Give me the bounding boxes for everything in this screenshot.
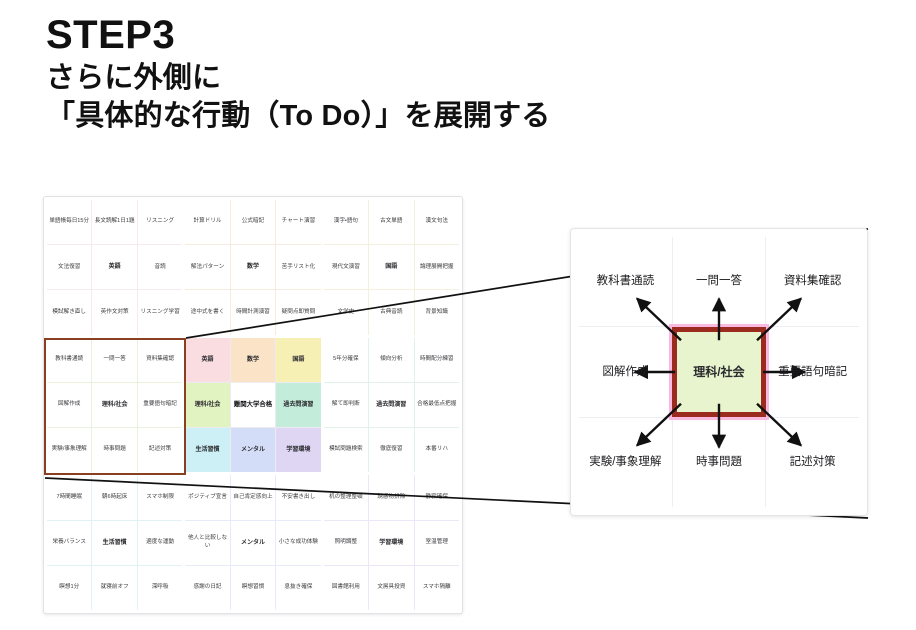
mandala-todo-cell[interactable]: 現代文演習 <box>324 245 368 289</box>
mandala-todo-cell[interactable]: 重要語句暗記 <box>138 383 182 427</box>
mandala-todo-cell[interactable]: 計算ドリル <box>185 200 229 244</box>
detail-cell-label: 実験/事象理解 <box>589 455 661 470</box>
mandala-todo-cell[interactable]: 模試問題検索 <box>324 428 368 472</box>
mandala-todo-cell[interactable]: 自己肯定感向上 <box>231 475 275 519</box>
mandala-block-過去問演習[interactable]: 5年分確保傾向分析時間配分練習解て即判断過去問演習合格最低点把握模試問題検索徹底… <box>324 338 459 473</box>
mandala-todo-cell[interactable]: 5年分確保 <box>324 338 368 382</box>
detail-cell-label: 資料集確認 <box>784 274 842 289</box>
mandala-theme-cell[interactable]: メンタル <box>231 521 275 565</box>
mandala-todo-cell[interactable]: 漢文句法 <box>415 200 459 244</box>
mandala-block-メンタル[interactable]: ポジティブ宣言自己肯定感向上不安書き出し他人と比較しないメンタル小さな成功体験感… <box>185 475 320 610</box>
subtitle-line-1: さらに外側に <box>46 60 846 98</box>
mandala-todo-cell[interactable]: 古文単語 <box>369 200 413 244</box>
mandala-todo-cell[interactable]: 模試解き直し <box>47 290 91 334</box>
mandala-todo-cell[interactable]: 他人と比較しない <box>185 521 229 565</box>
mandala-todo-cell[interactable]: 照明調整 <box>324 521 368 565</box>
detail-grid: 教科書通読 一問一答 資料集確認 図解作成 重要語句暗記 実験/事象理解 時事問… <box>579 237 859 507</box>
mandala-todo-cell[interactable]: 誘惑物排除 <box>369 475 413 519</box>
mandala-theme-cell[interactable]: 過去問演習 <box>369 383 413 427</box>
mandala-todo-cell[interactable]: 本番リハ <box>415 428 459 472</box>
mandala-todo-cell[interactable]: スマホ制限 <box>138 475 182 519</box>
mandala-block-数学[interactable]: 計算ドリル公式暗記チャート演習解法パターン数学苦手リスト化途中式を書く時間計測演… <box>185 200 320 335</box>
mandala-todo-cell[interactable]: 理科/社会 <box>185 383 229 427</box>
mandala-todo-cell[interactable]: 数学 <box>231 338 275 382</box>
detail-card[interactable]: 教科書通読 一問一答 資料集確認 図解作成 重要語句暗記 実験/事象理解 時事問… <box>570 228 868 516</box>
mandala-todo-cell[interactable]: 長文読解1日1題 <box>92 200 136 244</box>
mandala-chart-card[interactable]: 単語帳毎日15分長文読解1日1題リスニング文法復習英語音読模試解き直し英作文対策… <box>43 196 463 614</box>
detail-center-cell[interactable]: 理科/社会 <box>672 327 765 417</box>
mandala-todo-cell[interactable]: 息抜き確保 <box>276 566 320 610</box>
mandala-todo-cell[interactable]: 時事問題 <box>92 428 136 472</box>
mandala-todo-cell[interactable]: 古典音読 <box>369 290 413 334</box>
mandala-todo-cell[interactable]: 公式暗記 <box>231 200 275 244</box>
mandala-todo-cell[interactable]: 疑問点即質問 <box>276 290 320 334</box>
mandala-todo-cell[interactable]: 資料集確認 <box>138 338 182 382</box>
detail-cell-0[interactable]: 教科書通読 <box>579 237 672 326</box>
detail-cell-label: 図解作成 <box>602 365 648 380</box>
mandala-todo-cell[interactable]: 一問一答 <box>92 338 136 382</box>
mandala-todo-cell[interactable]: 途中式を書く <box>185 290 229 334</box>
mandala-todo-cell[interactable]: チャート演習 <box>276 200 320 244</box>
mandala-block-理科/社会[interactable]: 教科書通読一問一答資料集確認図解作成理科/社会重要語句暗記実験/事象理解時事問題… <box>47 338 182 473</box>
mandala-todo-cell[interactable]: ポジティブ宣言 <box>185 475 229 519</box>
mandala-todo-cell[interactable]: 7時間睡眠 <box>47 475 91 519</box>
detail-cell-label: 教科書通読 <box>597 274 655 289</box>
detail-cell-label: 重要語句暗記 <box>778 365 847 380</box>
mandala-todo-cell[interactable]: 静寂確保 <box>415 475 459 519</box>
mandala-todo-cell[interactable]: メンタル <box>231 428 275 472</box>
mandala-todo-cell[interactable]: 音読 <box>138 245 182 289</box>
mandala-todo-cell[interactable]: 感謝の日記 <box>185 566 229 610</box>
mandala-todo-cell[interactable]: 単語帳毎日15分 <box>47 200 91 244</box>
mandala-todo-cell[interactable]: 文学史 <box>324 290 368 334</box>
mandala-todo-cell[interactable]: 瞑想習慣 <box>231 566 275 610</box>
detail-cell-2[interactable]: 資料集確認 <box>766 237 859 326</box>
mandala-todo-cell[interactable]: 漢字・語句 <box>324 200 368 244</box>
mandala-todo-cell[interactable]: 瞑想1分 <box>47 566 91 610</box>
detail-cell-5[interactable]: 重要語句暗記 <box>766 327 859 416</box>
mandala-todo-cell[interactable]: 合格最低点把握 <box>415 383 459 427</box>
mandala-todo-cell[interactable]: 苦手リスト化 <box>276 245 320 289</box>
mandala-grid: 単語帳毎日15分長文読解1日1題リスニング文法復習英語音読模試解き直し英作文対策… <box>47 200 459 610</box>
mandala-todo-cell[interactable]: 傾向分析 <box>369 338 413 382</box>
mandala-block-国語[interactable]: 漢字・語句古文単語漢文句法現代文演習国語論理展開把握文学史古典音読背景知識 <box>324 200 459 335</box>
detail-cell-6[interactable]: 実験/事象理解 <box>579 418 672 507</box>
mandala-theme-cell[interactable]: 学習環境 <box>369 521 413 565</box>
mandala-todo-cell[interactable]: 時間配分練習 <box>415 338 459 382</box>
detail-cell-label: 一問一答 <box>696 274 742 289</box>
mandala-todo-cell[interactable]: 英語 <box>185 338 229 382</box>
mandala-todo-cell[interactable]: リスニング <box>138 200 182 244</box>
mandala-todo-cell[interactable]: 就寝前オフ <box>92 566 136 610</box>
mandala-todo-cell[interactable]: 適度な運動 <box>138 521 182 565</box>
mandala-todo-cell[interactable]: 国語 <box>276 338 320 382</box>
mandala-todo-cell[interactable]: 不安書き出し <box>276 475 320 519</box>
mandala-todo-cell[interactable]: 徹底復習 <box>369 428 413 472</box>
mandala-todo-cell[interactable]: 文房具投資 <box>369 566 413 610</box>
mandala-todo-cell[interactable]: 解法パターン <box>185 245 229 289</box>
mandala-todo-cell[interactable]: 実験/事象理解 <box>47 428 91 472</box>
mandala-theme-cell[interactable]: 英語 <box>92 245 136 289</box>
mandala-todo-cell[interactable]: 栄養バランス <box>47 521 91 565</box>
mandala-todo-cell[interactable]: 学習環境 <box>276 428 320 472</box>
detail-cell-8[interactable]: 記述対策 <box>766 418 859 507</box>
detail-cell-3[interactable]: 図解作成 <box>579 327 672 416</box>
detail-cell-label: 時事問題 <box>696 455 742 470</box>
mandala-block-難関大学合格[interactable]: 英語数学国語理科/社会難関大学合格過去問演習生活習慣メンタル学習環境 <box>185 338 320 473</box>
mandala-todo-cell[interactable]: 時間計測演習 <box>231 290 275 334</box>
mandala-todo-cell[interactable]: 文法復習 <box>47 245 91 289</box>
mandala-todo-cell[interactable]: リスニング学習 <box>138 290 182 334</box>
mandala-todo-cell[interactable]: 背景知識 <box>415 290 459 334</box>
mandala-block-生活習慣[interactable]: 7時間睡眠朝6時起床スマホ制限栄養バランス生活習慣適度な運動瞑想1分就寝前オフ深… <box>47 475 182 610</box>
mandala-todo-cell[interactable]: 論理展開把握 <box>415 245 459 289</box>
mandala-todo-cell[interactable]: 室温管理 <box>415 521 459 565</box>
mandala-theme-cell[interactable]: 理科/社会 <box>92 383 136 427</box>
mandala-todo-cell[interactable]: 記述対策 <box>138 428 182 472</box>
mandala-todo-cell[interactable]: 図書館利用 <box>324 566 368 610</box>
mandala-block-英語[interactable]: 単語帳毎日15分長文読解1日1題リスニング文法復習英語音読模試解き直し英作文対策… <box>47 200 182 335</box>
mandala-todo-cell[interactable]: 図解作成 <box>47 383 91 427</box>
title-block: STEP3 さらに外側に 「具体的な行動（To Do）」を展開する <box>46 14 846 135</box>
mandala-todo-cell[interactable]: スマホ隔離 <box>415 566 459 610</box>
mandala-todo-cell[interactable]: 小さな成功体験 <box>276 521 320 565</box>
subtitle-line-2: 「具体的な行動（To Do）」を展開する <box>46 98 846 136</box>
mandala-todo-cell[interactable]: 机の整理整頓 <box>324 475 368 519</box>
mandala-todo-cell[interactable]: 教科書通読 <box>47 338 91 382</box>
mandala-todo-cell[interactable]: 生活習慣 <box>185 428 229 472</box>
mandala-todo-cell[interactable]: 英作文対策 <box>92 290 136 334</box>
mandala-theme-cell[interactable]: 難関大学合格 <box>231 383 275 427</box>
detail-cell-7[interactable]: 時事問題 <box>673 418 766 507</box>
step-title: STEP3 <box>46 14 846 56</box>
mandala-todo-cell[interactable]: 朝6時起床 <box>92 475 136 519</box>
mandala-theme-cell[interactable]: 生活習慣 <box>92 521 136 565</box>
detail-cell-1[interactable]: 一問一答 <box>673 237 766 326</box>
mandala-block-学習環境[interactable]: 机の整理整頓誘惑物排除静寂確保照明調整学習環境室温管理図書館利用文房具投資スマホ… <box>324 475 459 610</box>
mandala-todo-cell[interactable]: 深呼吸 <box>138 566 182 610</box>
detail-cell-label: 記述対策 <box>790 455 836 470</box>
mandala-theme-cell[interactable]: 国語 <box>369 245 413 289</box>
mandala-todo-cell[interactable]: 過去問演習 <box>276 383 320 427</box>
mandala-todo-cell[interactable]: 解て即判断 <box>324 383 368 427</box>
mandala-theme-cell[interactable]: 数学 <box>231 245 275 289</box>
